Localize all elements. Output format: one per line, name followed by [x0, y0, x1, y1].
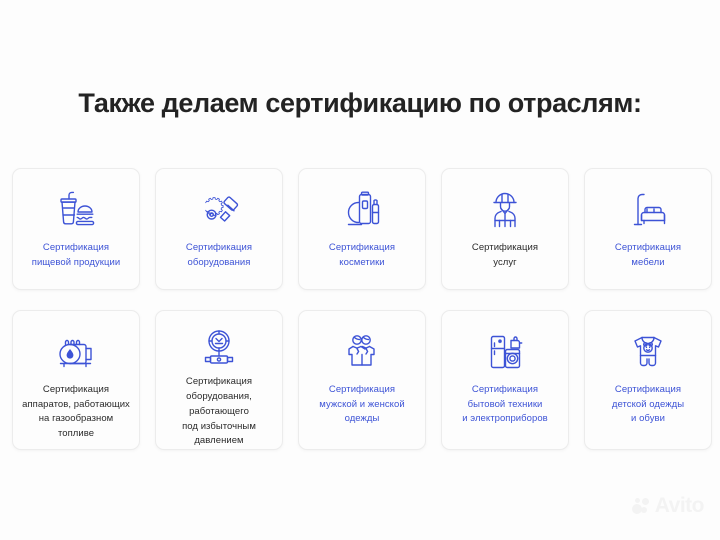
- card-equipment[interactable]: Сертификация оборудования: [155, 168, 283, 290]
- card-label-line1: Сертификация: [615, 242, 681, 253]
- worker-helmet-icon: [483, 185, 527, 235]
- cosmetics-mirror-lipstick-icon: [340, 185, 384, 235]
- furniture-sofa-lamp-icon: [626, 185, 670, 235]
- card-label-line1: Сертификация: [472, 242, 538, 253]
- card-label: Сертификация пищевой продукции: [24, 241, 128, 270]
- men-women-clothing-icon: [340, 327, 384, 377]
- card-food-products[interactable]: Сертификация пищевой продукции: [12, 168, 140, 290]
- home-appliances-icon: [483, 327, 527, 377]
- card-pressure-equipment[interactable]: Сертификация оборудования, работающего п…: [155, 310, 283, 450]
- card-label-line3: на газообразном топливе: [39, 413, 114, 439]
- card-furniture[interactable]: Сертификация мебели: [584, 168, 712, 290]
- card-home-appliances[interactable]: Сертификация бытовой техники и электропр…: [441, 310, 569, 450]
- card-label-line2: мужской и женской: [319, 399, 404, 410]
- card-label-line2: бытовой техники: [468, 399, 543, 410]
- food-drink-burger-icon: [54, 185, 98, 235]
- card-label-line1: Сертификация: [472, 384, 538, 395]
- card-label-line2: мебели: [631, 257, 664, 268]
- avito-wordmark: Avito: [655, 495, 704, 516]
- card-label: Сертификация мужской и женской одежды: [311, 383, 412, 427]
- card-label-line1: Сертификация: [615, 384, 681, 395]
- card-label: Сертификация детской одежды и обуви: [604, 383, 692, 427]
- card-label-line1: Сертификация: [186, 242, 252, 253]
- card-label: Сертификация оборудования: [178, 241, 260, 270]
- card-services[interactable]: Сертификация услуг: [441, 168, 569, 290]
- card-label-line2: аппаратов, работающих: [22, 399, 130, 410]
- gear-tool-icon: [197, 185, 241, 235]
- card-label-line1: Сертификация: [43, 384, 109, 395]
- card-mens-womens-clothing[interactable]: Сертификация мужской и женской одежды: [298, 310, 426, 450]
- avito-logo-icon: [632, 497, 651, 514]
- card-label: Сертификация услуг: [464, 241, 546, 270]
- gas-tank-icon: [53, 327, 99, 377]
- card-label-line3: под избыточным давлением: [182, 421, 256, 447]
- card-label: Сертификация бытовой техники и электропр…: [454, 383, 556, 427]
- card-label: Сертификация оборудования, работающего п…: [156, 375, 282, 449]
- card-label: Сертификация косметики: [321, 241, 403, 270]
- card-label-line2: пищевой продукции: [32, 257, 120, 268]
- card-cosmetics[interactable]: Сертификация косметики: [298, 168, 426, 290]
- card-label: Сертификация мебели: [607, 241, 689, 270]
- card-label-line2: детской одежды: [612, 399, 684, 410]
- card-label-line2: услуг: [493, 257, 516, 268]
- card-label-line1: Сертификация: [43, 242, 109, 253]
- card-label-line2: оборудования: [188, 257, 251, 268]
- card-label-line1: Сертификация: [186, 376, 252, 387]
- card-label: Сертификация аппаратов, работающих на га…: [13, 383, 139, 442]
- card-gas-fuel-apparatus[interactable]: Сертификация аппаратов, работающих на га…: [12, 310, 140, 450]
- baby-onesie-icon: [626, 327, 670, 377]
- page-title: Также делаем сертификацию по отраслям:: [0, 88, 720, 119]
- card-label-line1: Сертификация: [329, 384, 395, 395]
- card-label-line2: косметики: [339, 257, 384, 268]
- card-label-line1: Сертификация: [329, 242, 395, 253]
- card-label-line2: оборудования, работающего: [186, 391, 252, 417]
- certification-industries-page: Также делаем сертификацию по отраслям:: [0, 0, 720, 540]
- card-label-line3: одежды: [345, 413, 380, 424]
- avito-watermark: Avito: [632, 495, 704, 516]
- card-label-line3: и обуви: [631, 413, 665, 424]
- card-childrens-clothing-shoes[interactable]: Сертификация детской одежды и обуви: [584, 310, 712, 450]
- pressure-gauge-valve-icon: [197, 327, 241, 369]
- industry-card-grid: Сертификация пищевой продукции: [12, 168, 708, 450]
- card-label-line3: и электроприборов: [462, 413, 548, 424]
